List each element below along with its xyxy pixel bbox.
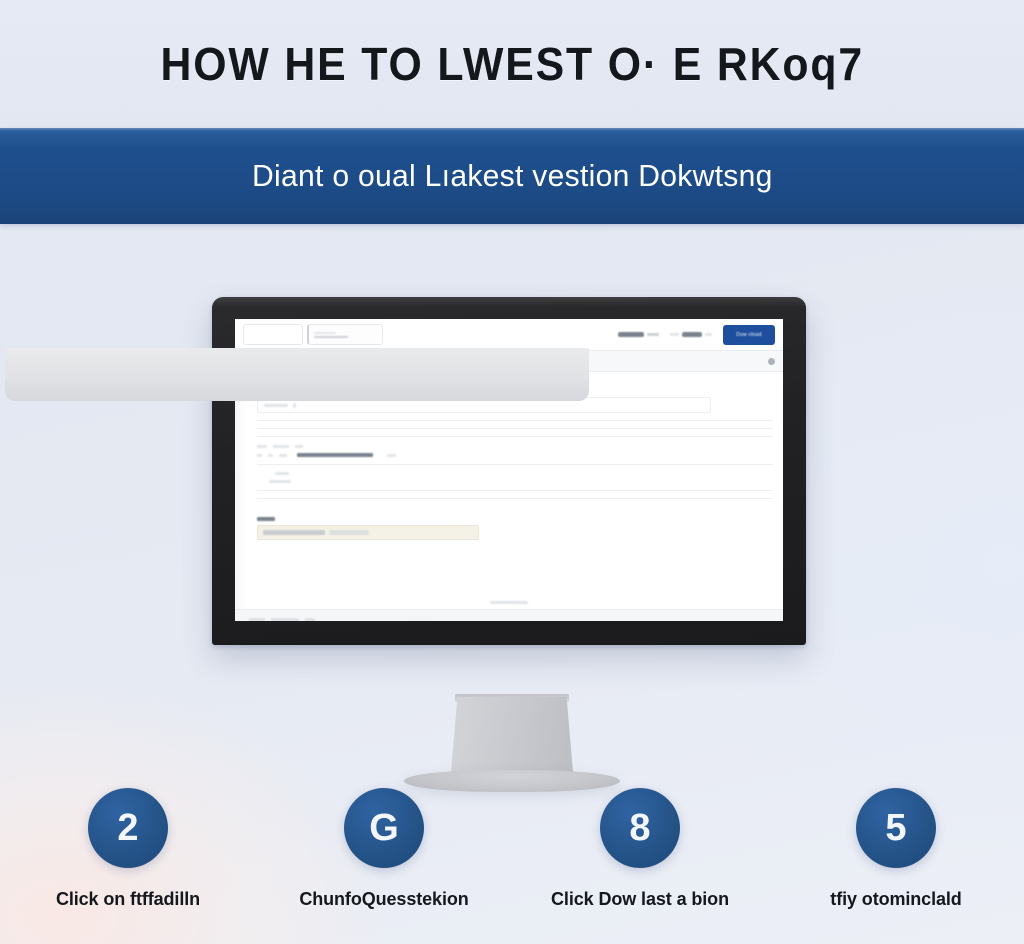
step-number-badge: 8 xyxy=(600,788,680,868)
step-item-4[interactable]: 5 tfiy otominclald xyxy=(768,788,1024,910)
table-header-cell xyxy=(257,445,267,448)
row-checkbox[interactable] xyxy=(257,454,262,457)
row-title xyxy=(297,453,373,457)
step-number-badge: 2 xyxy=(88,788,168,868)
subtitle-banner: Diant o oual Lıakest vestion Dokwtsng xyxy=(0,128,1024,224)
tab-blank[interactable] xyxy=(243,324,303,345)
row-subvalue xyxy=(275,472,289,475)
page-title: HOW HE TO LWEST O· E RKoq7 xyxy=(160,37,864,91)
footer-item[interactable] xyxy=(305,618,315,621)
toggle-switch[interactable] xyxy=(682,332,702,337)
highlight-value xyxy=(263,530,325,535)
gear-icon[interactable] xyxy=(768,358,775,365)
footer-item[interactable] xyxy=(271,618,299,621)
footer-strip xyxy=(235,609,783,621)
step-number-badge: 5 xyxy=(856,788,936,868)
divider xyxy=(257,428,773,429)
table-header-cell xyxy=(273,445,289,448)
highlight-field[interactable] xyxy=(257,525,479,540)
row-meta xyxy=(387,454,396,457)
toggle-control[interactable] xyxy=(670,332,712,337)
center-note xyxy=(490,601,528,604)
divider xyxy=(257,490,773,491)
app-topbar: Dow nload xyxy=(235,319,783,351)
divider xyxy=(257,464,773,465)
step-item-1[interactable]: 2 Click on ftffadilln xyxy=(0,788,256,910)
usage-meter xyxy=(618,332,659,337)
app-body xyxy=(235,372,783,621)
step-item-3[interactable]: 8 Click Dow last a bion xyxy=(512,788,768,910)
table-row[interactable] xyxy=(257,480,773,483)
step-label: ChunfoQuesstekion xyxy=(299,889,468,910)
toggle-suffix xyxy=(705,333,712,336)
highlight-value-secondary xyxy=(329,530,369,535)
center-note-text xyxy=(490,601,528,604)
download-button-label: Dow nload xyxy=(736,332,761,338)
row-index xyxy=(279,454,287,457)
tab-label-line xyxy=(314,332,336,334)
meter-bar xyxy=(618,332,644,337)
footer-item[interactable] xyxy=(249,618,265,621)
table-row[interactable] xyxy=(257,453,773,457)
divider xyxy=(257,436,773,437)
text-cursor xyxy=(293,403,296,408)
steps-row: 2 Click on ftffadilln G ChunfoQuesstekio… xyxy=(0,788,1024,910)
table-header-row xyxy=(257,445,773,448)
step-number-badge: G xyxy=(344,788,424,868)
poster-root: HOW HE TO LWEST O· E RKoq7 Diant o oual … xyxy=(0,0,1024,944)
divider xyxy=(257,420,773,421)
step-label: Click Dow last a bion xyxy=(551,889,729,910)
banner-subtitle: Diant o oual Lıakest vestion Dokwtsng xyxy=(252,158,773,194)
divider xyxy=(257,498,773,499)
table-row[interactable] xyxy=(257,472,773,475)
tab-sublabel-line xyxy=(314,336,348,338)
topbar-actions: Dow nload xyxy=(618,325,775,345)
row-icon xyxy=(268,454,273,457)
table-header-cell xyxy=(295,445,303,448)
download-button[interactable]: Dow nload xyxy=(723,325,775,345)
step-label: Click on ftffadilln xyxy=(56,889,200,910)
tab-active[interactable] xyxy=(307,324,383,345)
row-subvalue xyxy=(269,480,291,483)
highlight-label xyxy=(257,517,275,521)
title-area: HOW HE TO LWEST O· E RKoq7 xyxy=(0,0,1024,128)
meter-label xyxy=(647,333,659,336)
monitor-chin xyxy=(5,348,589,401)
step-item-2[interactable]: G ChunfoQuesstekion xyxy=(256,788,512,910)
toggle-prefix xyxy=(670,333,679,336)
highlight-block xyxy=(257,517,773,540)
search-input-value xyxy=(264,404,288,407)
step-label: tfiy otominclald xyxy=(830,889,961,910)
